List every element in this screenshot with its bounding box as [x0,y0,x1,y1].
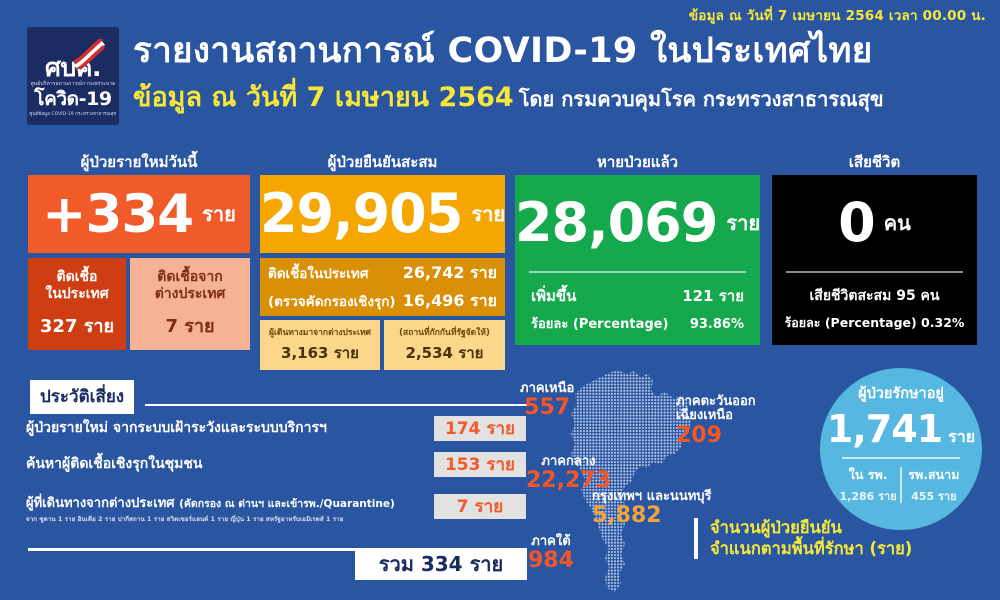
risk-history-badge: ประวัติเสี่ยง [30,380,134,414]
treatment-value-wrap: 1,741 ราย [827,407,975,451]
region-central-label: ภาคกลาง [526,455,611,469]
cumulative-breakdown: ติดเชื้อในประเทศ 26,742 ราย (ตรวจคัดกรอง… [260,258,505,316]
subtitle-date: ข้อมูล ณ วันที่ 7 เมษายน 2564 [133,82,514,113]
treatment-field-hospital: รพ.สนาม 455 ราย [902,465,966,505]
region-northeast-value: 209 [676,424,756,448]
page-subtitle: ข้อมูล ณ วันที่ 7 เมษายน 2564 โดย กรมควบ… [133,84,884,112]
new-cases-domestic: ติดเชื้อ ในประเทศ 327 ราย [28,258,126,350]
treatment-divider [842,457,960,459]
cumulative-screening-row: (ตรวจคัดกรองเชิงรุก) 16,496 ราย [268,289,497,314]
treatment-hospital-label: ใน รพ. [849,465,888,485]
region-north-label: ภาคเหนือ [520,382,574,396]
region-north-value: 557 [520,396,574,420]
infographic-root: ข้อมูล ณ วันที่ 7 เมษายน 2564 เวลา 00.00… [0,0,1000,600]
risk-row-travel-fineprint: จาก ซูดาน 1 ราย อินเดีย 2 ราย ปากีสถาน 1… [26,514,395,524]
region-northeast: ภาคตะวันออก เฉียงเหนือ 209 [676,395,756,448]
cumulative-domestic-label: ติดเชื้อในประเทศ [268,262,368,284]
subtitle-agency: โดย กรมควบคุมโรค กระทรวงสาธารณสุข [519,87,884,111]
risk-row-surveillance-label: ผู้ป่วยรายใหม่ จากระบบเฝ้าระวังและระบบบร… [26,417,327,439]
card-header-new-cases: ผู้ป่วยรายใหม่วันนี้ [28,150,250,174]
cumulative-card: 29,905 ราย [260,175,505,253]
risk-total-value: รวม 334 ราย [355,548,527,580]
recovered-value-wrap: 28,069 ราย [515,175,760,271]
new-cases-imported-value: 7 ราย [165,311,214,340]
page-title: รายงานสถานการณ์ COVID-19 ในประเทศไทย [133,33,873,70]
risk-row-travel-labels: ผู้ที่เดินทางจากต่างประเทศ (คัดกรอง ณ ด่… [26,492,395,524]
treatment-unit: ราย [948,425,975,450]
new-cases-imported-label: ติดเชื้อจาก ต่างประเทศ [155,269,226,304]
deaths-details: เสียชีวิตสะสม 95 คน ร้อยละ (Percentage) … [772,273,977,345]
cumulative-arrivals-value: 3,163 ราย [281,341,359,365]
new-cases-card: +334 ราย [28,175,250,253]
treatment-columns: ใน รพ. 1,286 ราย รพ.สนาม 455 ราย [836,465,966,505]
cumulative-unit: ราย [471,204,505,224]
treatment-field-hospital-value: 455 ราย [911,487,956,505]
card-header-deaths: เสียชีวิต [772,150,977,174]
cumulative-domestic-value: 26,742 ราย [403,261,497,286]
region-bangkok-label: กรุงเทพฯ และนนทบุรี [592,490,712,504]
cumulative-quarantine-label: (สถานที่กักกันที่รัฐจัดให้) [399,325,490,339]
cumulative-screening-label: (ตรวจคัดกรองเชิงรุก) [268,290,396,312]
recovered-percent-label: ร้อยละ (Percentage) [531,313,668,334]
treatment-bubble: ผู้ป่วยรักษาอยู่ 1,741 ราย ใน รพ. 1,286 … [820,368,982,530]
risk-row-active-case-finding-label: ค้นหาผู้ติดเชื้อเชิงรุกในชุมชน [26,453,202,475]
cumulative-arrivals-label: ผู้เดินทางมาจากต่างประเทศ [269,325,371,339]
deaths-value-wrap: 0 คน [772,175,977,271]
risk-total-rule [28,548,358,551]
risk-history-rule [145,404,527,406]
new-cases-domestic-value: 327 ราย [40,311,114,340]
region-northeast-label-2: เฉียงเหนือ [676,409,756,423]
recovered-increase-row: เพิ่มขึ้น 121 ราย [531,284,744,308]
treatment-hospital: ใน รพ. 1,286 ราย [836,465,900,505]
deaths-value: 0 [838,196,875,250]
thai-flag-ribbon-icon [72,39,106,69]
treatment-value: 1,741 [827,407,942,451]
risk-row-active-case-finding: ค้นหาผู้ติดเชื้อเชิงรุกในชุมชน 153 ราย [26,450,526,478]
logo-covid-text: โควิด-19 [34,90,111,109]
cc-sa-logo: ศบค. ศูนย์บริหารสถานการณ์การแพร่ระบาด โค… [27,27,119,125]
deaths-unit: คน [884,213,911,233]
recovered-details: เพิ่มขึ้น 121 ราย ร้อยละ (Percentage) 93… [515,273,760,345]
map-legend-line-2: จำแนกตามพื้นที่รักษา (ราย) [710,539,912,560]
recovered-unit: ราย [726,213,760,233]
card-header-cumulative: ผู้ป่วยยืนยันสะสม [260,150,505,174]
cumulative-screening-value: 16,496 ราย [403,289,497,314]
deaths-percent-label: ร้อยละ (Percentage) 0.32% [785,313,965,333]
cumulative-domestic-row: ติดเชื้อในประเทศ 26,742 ราย [268,261,497,286]
cumulative-quarantine-value: 2,534 ราย [406,341,484,365]
treatment-title: ผู้ป่วยรักษาอยู่ [858,382,944,405]
risk-row-surveillance-value: 174 ราย [434,416,526,441]
datestamp: ข้อมูล ณ วันที่ 7 เมษายน 2564 เวลา 00.00… [689,4,986,26]
deaths-card: 0 คน เสียชีวิตสะสม 95 คน ร้อยละ (Percent… [772,175,977,345]
card-header-recovered: หายป่วยแล้ว [515,150,760,174]
deaths-cumulative-label: เสียชีวิตสะสม 95 คน [810,285,940,307]
recovered-value: 28,069 [515,196,717,250]
cumulative-value: 29,905 [260,187,462,241]
treatment-field-hospital-label: รพ.สนาม [908,465,959,485]
new-cases-domestic-label: ติดเชื้อ ในประเทศ [45,269,108,304]
recovered-percent-row: ร้อยละ (Percentage) 93.86% [531,313,744,334]
logo-covid-subtitle: ศูนย์ข้อมูล COVID-19 กระทรวงสาธารณสุข [29,112,116,117]
region-south-label: ภาคใต้ [528,535,574,549]
cumulative-arrivals: ผู้เดินทางมาจากต่างประเทศ 3,163 ราย [260,320,380,370]
risk-row-travel-label: ผู้ที่เดินทางจากต่างประเทศ (คัดกรอง ณ ด่… [26,492,395,513]
recovered-increase-value: 121 ราย [682,284,744,308]
region-north: ภาคเหนือ 557 [520,382,574,420]
risk-row-travel: ผู้ที่เดินทางจากต่างประเทศ (คัดกรอง ณ ด่… [26,492,526,526]
recovered-card: 28,069 ราย เพิ่มขึ้น 121 ราย ร้อยละ (Per… [515,175,760,345]
region-central: ภาคกลาง 22,273 [526,455,611,493]
region-south-value: 984 [528,549,574,573]
new-cases-unit: ราย [202,204,236,224]
region-south: ภาคใต้ 984 [528,535,574,573]
treatment-hospital-value: 1,286 ราย [840,487,897,505]
recovered-percent-value: 93.86% [690,317,744,332]
cumulative-quarantine: (สถานที่กักกันที่รัฐจัดให้) 2,534 ราย [384,320,505,370]
risk-row-travel-value: 7 ราย [434,494,526,519]
logo-acronym-subtitle: ศูนย์บริหารสถานการณ์การแพร่ระบาด [30,82,115,88]
recovered-increase-label: เพิ่มขึ้น [531,284,576,308]
new-cases-value: +334 [42,188,193,241]
risk-row-surveillance: ผู้ป่วยรายใหม่ จากระบบเฝ้าระวังและระบบบร… [26,414,526,442]
new-cases-imported: ติดเชื้อจาก ต่างประเทศ 7 ราย [130,258,250,350]
risk-row-active-case-finding-value: 153 ราย [434,452,526,477]
